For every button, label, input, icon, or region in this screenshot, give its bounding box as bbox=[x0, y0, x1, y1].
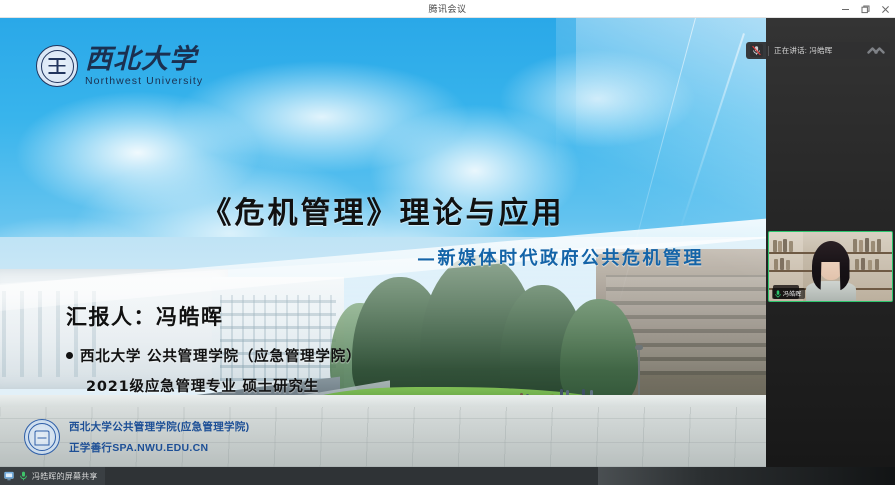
school-motto-url: 正学善行SPA.NWU.EDU.CN bbox=[69, 440, 249, 455]
bullet-icon bbox=[66, 352, 73, 359]
video-name-badge: 冯皓晖 bbox=[772, 288, 805, 299]
window-titlebar[interactable]: 腾讯会议 bbox=[0, 0, 895, 18]
participant-video-tile[interactable]: 冯皓晖 bbox=[768, 231, 893, 302]
maximize-restore-button[interactable] bbox=[855, 0, 875, 18]
slide-footer: 西北大学公共管理学院(应急管理学院) 正学善行SPA.NWU.EDU.CN bbox=[24, 419, 249, 455]
mic-active-icon bbox=[774, 289, 781, 298]
video-book bbox=[861, 258, 865, 270]
presenter-program-row: 2021级应急管理专业 硕士研究生 bbox=[66, 375, 361, 396]
window-controls bbox=[835, 0, 895, 18]
presentation-slide: 西北大学 Northwest University 《危机管理》理论与应用 —新… bbox=[0, 18, 766, 467]
school-text-block: 西北大学公共管理学院(应急管理学院) 正学善行SPA.NWU.EDU.CN bbox=[69, 419, 249, 455]
school-seal-icon bbox=[24, 419, 60, 455]
speaking-bar-divider bbox=[768, 46, 769, 56]
taskbar-screenshare-item[interactable]: 冯皓晖的屏幕共享 bbox=[0, 467, 105, 485]
tencent-meeting-window: 腾讯会议 bbox=[0, 0, 895, 485]
video-book bbox=[853, 239, 857, 252]
close-button[interactable] bbox=[875, 0, 895, 18]
video-book bbox=[789, 241, 793, 252]
university-logo: 西北大学 Northwest University bbox=[36, 45, 203, 87]
video-book bbox=[865, 238, 869, 252]
presenter-affiliation: 西北大学 公共管理学院（应急管理学院） bbox=[80, 345, 361, 366]
video-book bbox=[773, 240, 777, 252]
taskbar-item-label: 冯皓晖的屏幕共享 bbox=[32, 471, 98, 482]
plaza-strip bbox=[0, 395, 766, 407]
microphone-icon bbox=[18, 471, 28, 481]
university-name-cn: 西北大学 bbox=[85, 46, 203, 73]
video-person-body bbox=[806, 281, 856, 301]
video-book bbox=[877, 239, 881, 252]
video-book bbox=[855, 259, 859, 270]
participants-sidebar: 冯皓晖 bbox=[766, 18, 895, 467]
presenter-program: 2021级应急管理专业 硕士研究生 bbox=[86, 375, 319, 396]
video-book bbox=[774, 259, 778, 270]
window-title: 腾讯会议 bbox=[428, 0, 466, 18]
video-book bbox=[780, 258, 784, 270]
presenter-affiliation-row: 西北大学 公共管理学院（应急管理学院） bbox=[66, 345, 361, 366]
video-participant-name: 冯皓晖 bbox=[783, 289, 802, 298]
monitor-icon bbox=[4, 471, 14, 481]
slide-title: 《危机管理》理论与应用 bbox=[0, 188, 766, 232]
mic-muted-icon[interactable] bbox=[750, 44, 763, 57]
presenter-block: 汇报人：冯皓晖 西北大学 公共管理学院（应急管理学院） 2021级应急管理专业 … bbox=[66, 301, 361, 396]
minimize-button[interactable] bbox=[835, 0, 855, 18]
video-book bbox=[868, 260, 872, 270]
video-book bbox=[871, 241, 875, 252]
shared-screen-stage[interactable]: 西北大学 Northwest University 《危机管理》理论与应用 —新… bbox=[0, 18, 766, 467]
video-book bbox=[783, 239, 787, 252]
presenter-name: 汇报人：冯皓晖 bbox=[66, 301, 361, 331]
video-book bbox=[875, 259, 879, 270]
taskbar-right-region bbox=[598, 467, 895, 485]
university-name-en: Northwest University bbox=[85, 76, 203, 87]
university-seal-icon bbox=[36, 45, 78, 87]
video-book bbox=[786, 260, 790, 270]
university-name-block: 西北大学 Northwest University bbox=[85, 46, 203, 87]
speaking-status-bar[interactable]: 正在讲话: 冯皓晖 bbox=[746, 42, 890, 59]
slide-subtitle: —新媒体时代政府公共危机管理 bbox=[417, 244, 704, 270]
video-book bbox=[859, 240, 863, 252]
speaking-status-text: 正在讲话: 冯皓晖 bbox=[774, 45, 861, 56]
chevron-double-up-icon[interactable] bbox=[866, 44, 886, 57]
video-book bbox=[778, 241, 782, 252]
school-name: 西北大学公共管理学院(应急管理学院) bbox=[69, 419, 249, 434]
meeting-content: 西北大学 Northwest University 《危机管理》理论与应用 —新… bbox=[0, 18, 895, 467]
os-taskbar: 冯皓晖的屏幕共享 bbox=[0, 467, 895, 485]
